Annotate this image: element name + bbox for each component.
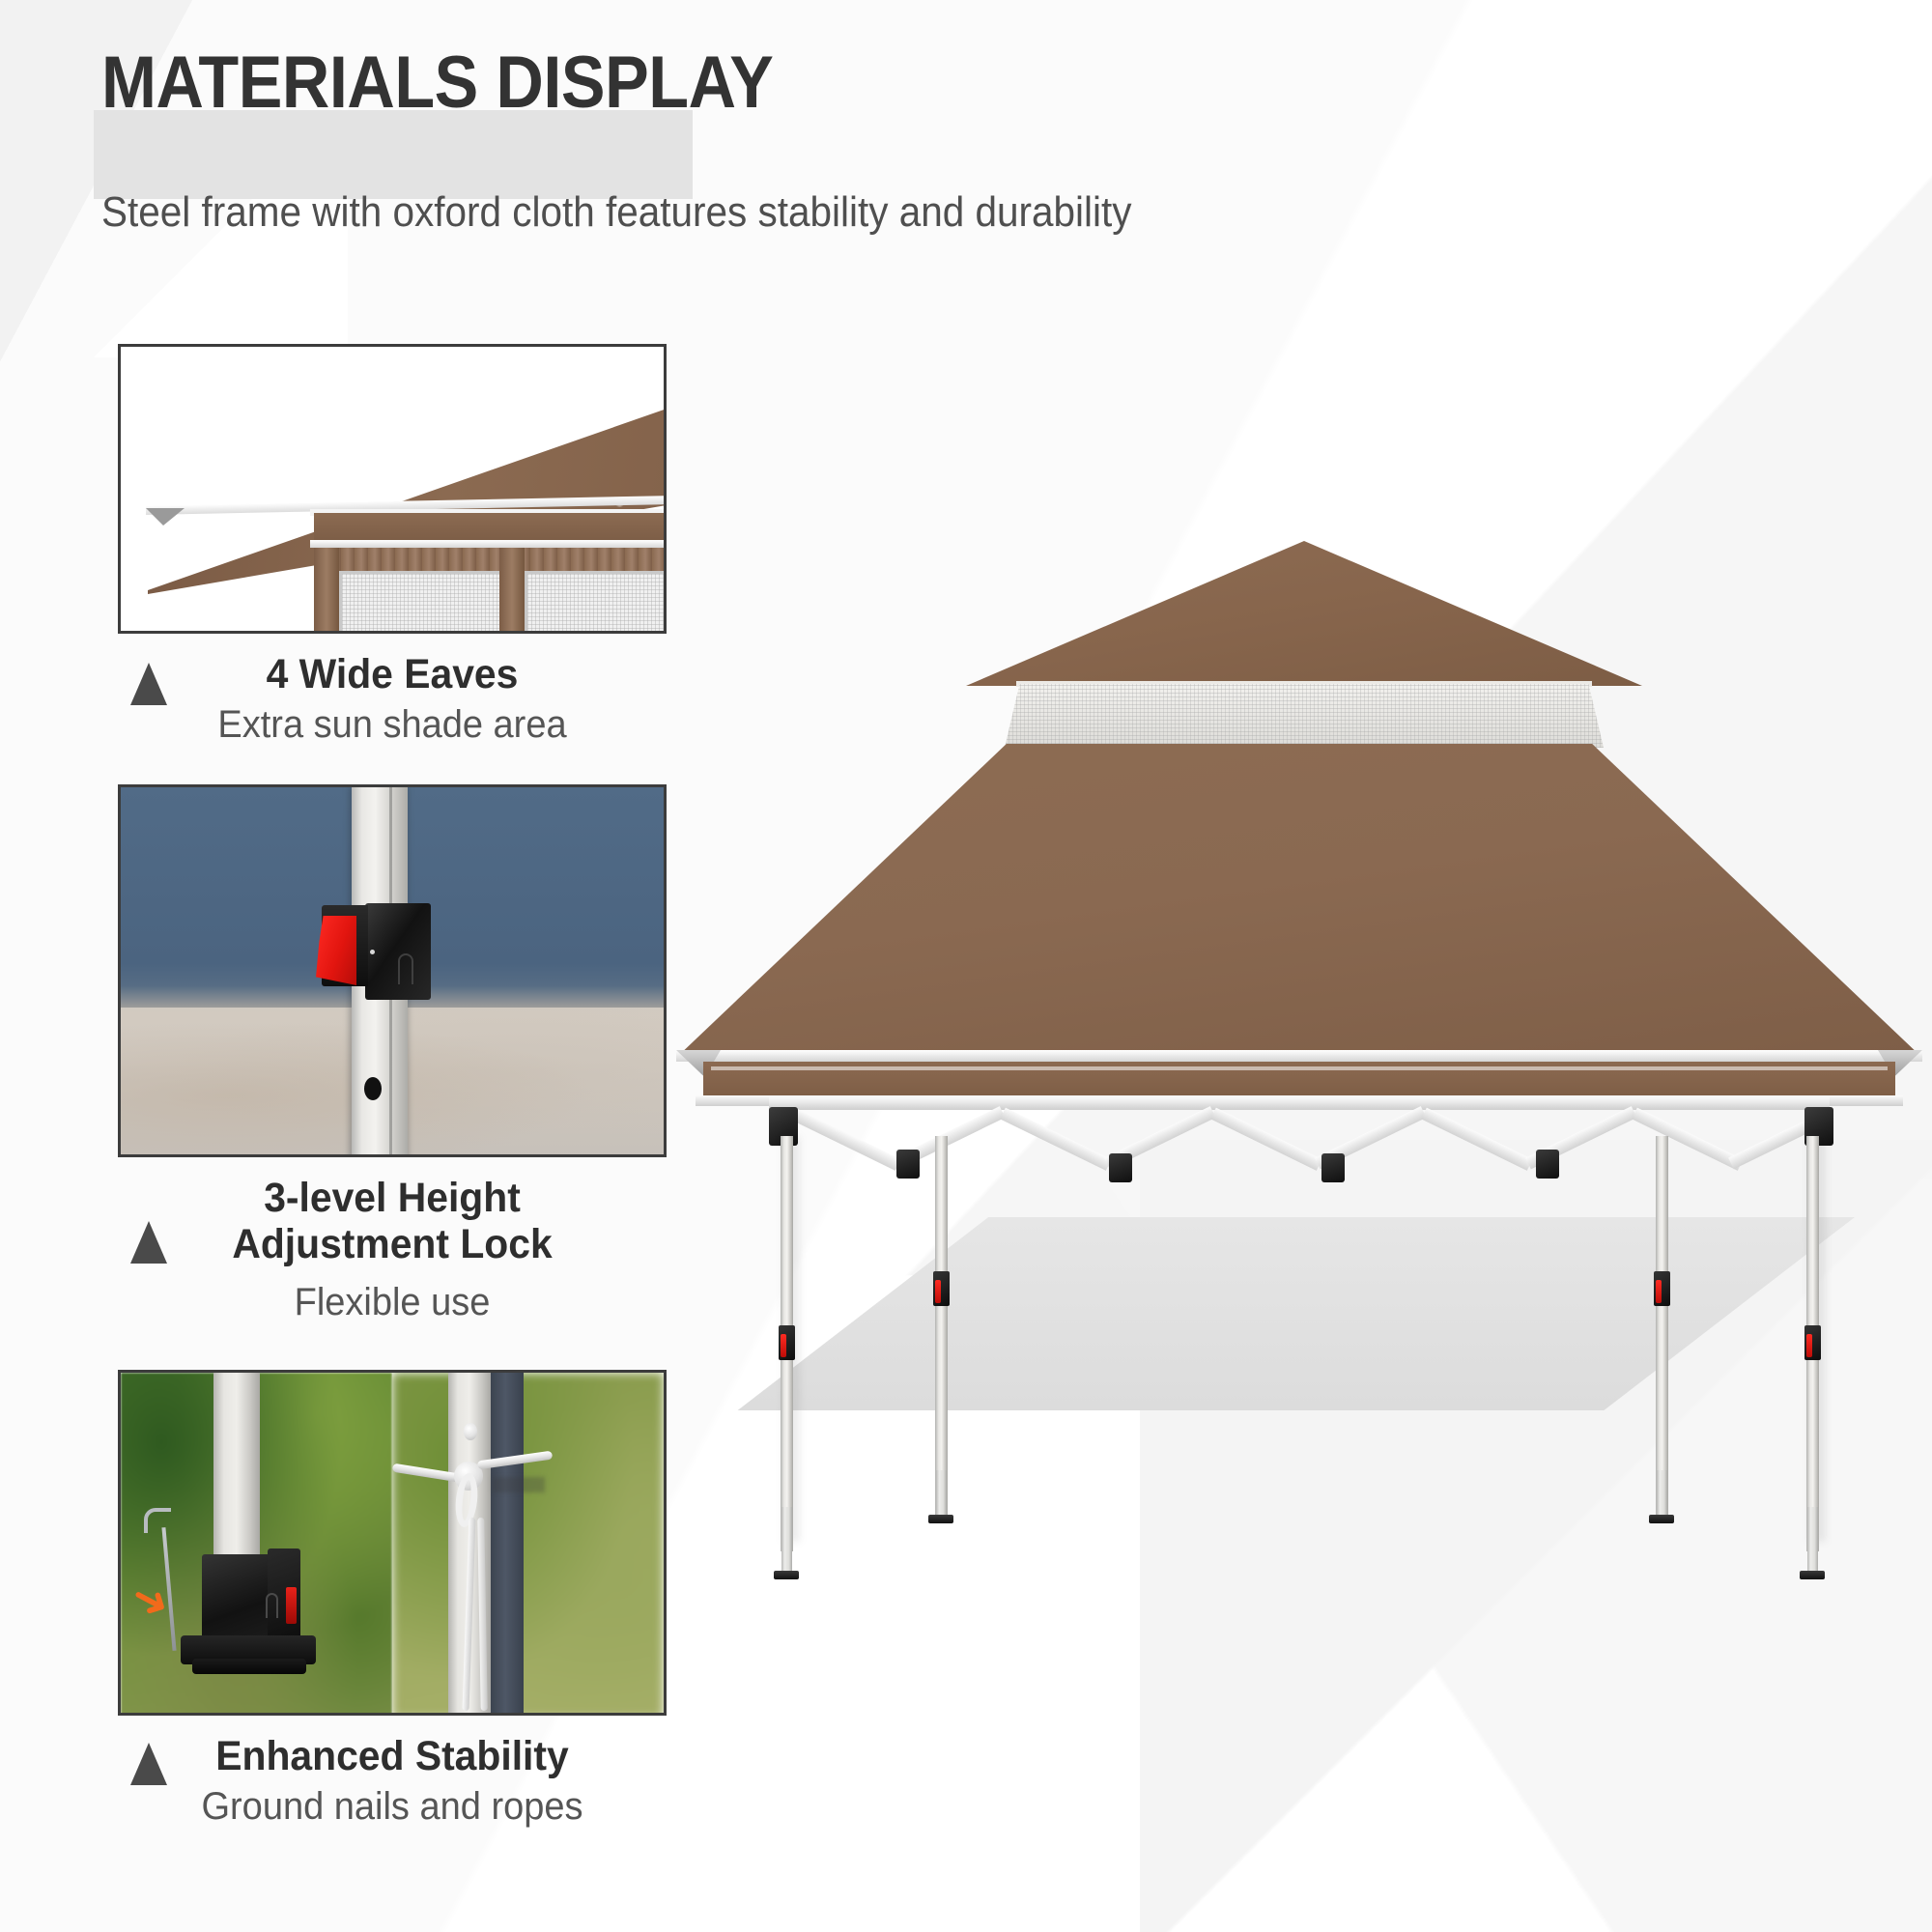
caption-height-lock: 3-level Height Adjustment Lock Flexible …	[118, 1157, 667, 1341]
red-release-button	[316, 916, 356, 985]
caption-subtitle: Flexible use	[131, 1279, 653, 1325]
caption-subtitle: Extra sun shade area	[131, 701, 653, 748]
eave-mesh-panel-left	[339, 571, 499, 634]
canopy-valance-highlight	[711, 1066, 1888, 1070]
infographic-page: MATERIALS DISPLAY Steel frame with oxfor…	[0, 0, 1932, 1932]
photo-half-guy-rope	[392, 1373, 664, 1716]
page-title: MATERIALS DISPLAY	[101, 41, 773, 125]
gazebo-leg-pole	[213, 1373, 260, 1577]
leg-lock-red-button[interactable]	[781, 1334, 786, 1357]
truss-diagonal	[789, 1108, 900, 1171]
pole-adjustment-hole	[364, 1077, 382, 1100]
truss-hub	[1321, 1153, 1345, 1182]
eave-post-middle	[499, 548, 525, 634]
leg-lock-red-button[interactable]	[1806, 1334, 1812, 1357]
photo-wide-eaves	[118, 344, 667, 634]
truss-hub	[1109, 1153, 1132, 1182]
photo-half-ground-nail: ➜	[121, 1373, 392, 1716]
caption-title-line1: 3-level Height	[131, 1175, 653, 1221]
lock-screw-icon	[370, 950, 375, 954]
feature-block-enhanced-stability: ➜ Enhanced	[118, 1370, 667, 1832]
caption-enhanced-stability: Enhanced Stability Ground nails and rope…	[118, 1716, 667, 1832]
rope-knot-top	[464, 1423, 477, 1440]
rope-shadow	[493, 1477, 545, 1492]
feature-block-height-lock: 3-level Height Adjustment Lock Flexible …	[118, 784, 667, 1341]
canopy-top-tier	[966, 541, 1642, 686]
caption-title: Enhanced Stability	[131, 1733, 653, 1779]
leg-lock-red-button[interactable]	[935, 1280, 941, 1303]
leg-foot-rear-right	[1649, 1515, 1674, 1523]
leg-lock-red-button[interactable]	[1656, 1280, 1662, 1303]
leg-foot-front-left	[774, 1571, 799, 1579]
leg-lock-rear-right[interactable]	[1654, 1271, 1670, 1306]
truss-hub	[1536, 1150, 1559, 1179]
eave-corner-tip	[146, 508, 185, 526]
truss-top-rail	[769, 1097, 1830, 1110]
leg-lock-rear-left[interactable]	[933, 1271, 950, 1306]
canopy-edge-trim	[676, 1050, 1922, 1062]
leg-foot-rear-left	[928, 1515, 953, 1523]
eave-post-left	[314, 548, 339, 634]
eave-post-right	[664, 548, 667, 634]
eave-fascia-band	[314, 513, 667, 542]
leg-lock-front-right[interactable]	[1804, 1325, 1821, 1360]
ground-shadow-plane	[715, 1217, 1855, 1410]
caption-title-line2: Adjustment Lock	[131, 1221, 653, 1267]
feature-column: 4 Wide Eaves Extra sun shade area	[118, 344, 667, 1832]
caption-wide-eaves: 4 Wide Eaves Extra sun shade area	[118, 634, 667, 750]
lock-slot-icon	[398, 953, 413, 984]
product-render-gazebo	[676, 541, 1922, 1584]
gazebo-leg-front-right-inner	[1807, 1507, 1818, 1577]
photo-height-lock	[118, 784, 667, 1157]
feature-block-wide-eaves: 4 Wide Eaves Extra sun shade area	[118, 344, 667, 750]
page-subtitle: Steel frame with oxford cloth features s…	[101, 188, 1131, 237]
truss-diagonal	[1421, 1108, 1532, 1171]
grass-background-blurred	[392, 1373, 664, 1716]
eave-mesh-panel-right	[525, 571, 664, 634]
truss-diagonal	[1632, 1108, 1743, 1171]
gazebo-leg-front-left-inner	[781, 1507, 792, 1577]
canopy-main-tier	[676, 744, 1922, 1058]
leg-foot-front-right	[1800, 1571, 1825, 1579]
ground-nail-icon	[144, 1508, 171, 1533]
caption-title: 4 Wide Eaves	[131, 651, 653, 697]
lock-housing	[365, 903, 431, 1000]
photo-enhanced-stability: ➜	[118, 1370, 667, 1716]
pole-shadow-side	[491, 1373, 524, 1716]
leg-base-plate-lower	[192, 1659, 306, 1674]
canopy-vent-mesh-band	[1005, 684, 1604, 748]
gazebo-leg-rear-right	[1656, 1136, 1668, 1517]
caption-subtitle: Ground nails and ropes	[131, 1783, 653, 1830]
gazebo-leg-rear-left	[935, 1136, 948, 1517]
truss-diagonal	[1210, 1108, 1321, 1171]
truss-diagonal	[1000, 1108, 1111, 1171]
base-slot-icon	[266, 1593, 278, 1618]
base-red-button	[286, 1587, 297, 1624]
truss-hub	[896, 1150, 920, 1179]
eave-valance-fabric	[314, 548, 667, 573]
eave-band-bottom-trim	[310, 540, 667, 548]
leg-lock-front-left[interactable]	[779, 1325, 795, 1360]
